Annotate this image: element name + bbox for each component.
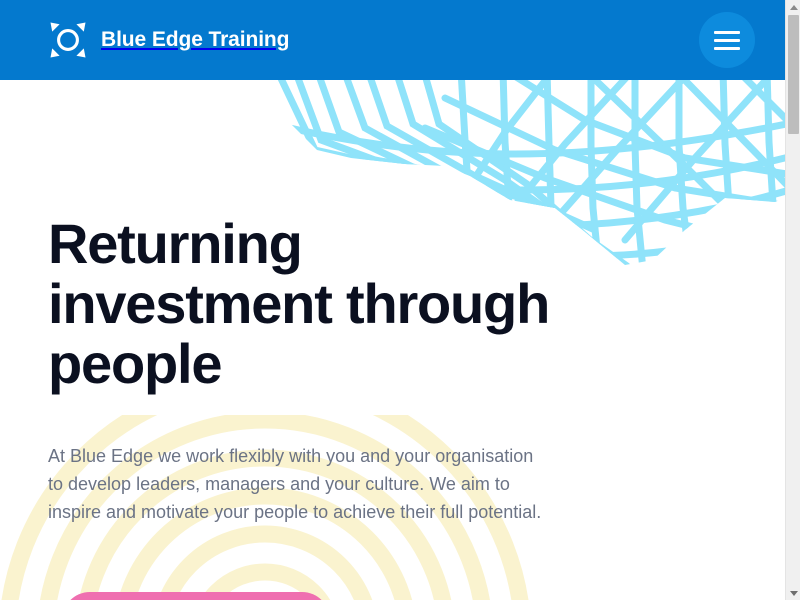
site-header: Blue Edge Training: [0, 0, 785, 80]
brand-logo-link[interactable]: Blue Edge Training: [48, 18, 289, 62]
hamburger-menu-button[interactable]: [699, 12, 755, 68]
vertical-scrollbar[interactable]: [785, 0, 800, 600]
hero-description: At Blue Edge we work flexibly with you a…: [48, 442, 548, 526]
hamburger-bar-3: [714, 47, 740, 50]
hero-cta-button[interactable]: [62, 592, 330, 600]
page-root: Blue Edge Training Returning investment …: [0, 0, 800, 600]
browser-viewport: Blue Edge Training Returning investment …: [0, 0, 785, 600]
scroll-up-arrow-icon[interactable]: [786, 0, 800, 14]
scrollbar-thumb[interactable]: [788, 15, 799, 134]
hamburger-bar-2: [714, 39, 740, 42]
hamburger-bar-1: [714, 31, 740, 34]
page-title: Returning investment through people: [48, 214, 588, 394]
brand-name-text: Blue Edge Training: [101, 28, 289, 52]
scroll-down-arrow-icon[interactable]: [786, 586, 800, 600]
blue-edge-logo-icon: [48, 20, 88, 60]
